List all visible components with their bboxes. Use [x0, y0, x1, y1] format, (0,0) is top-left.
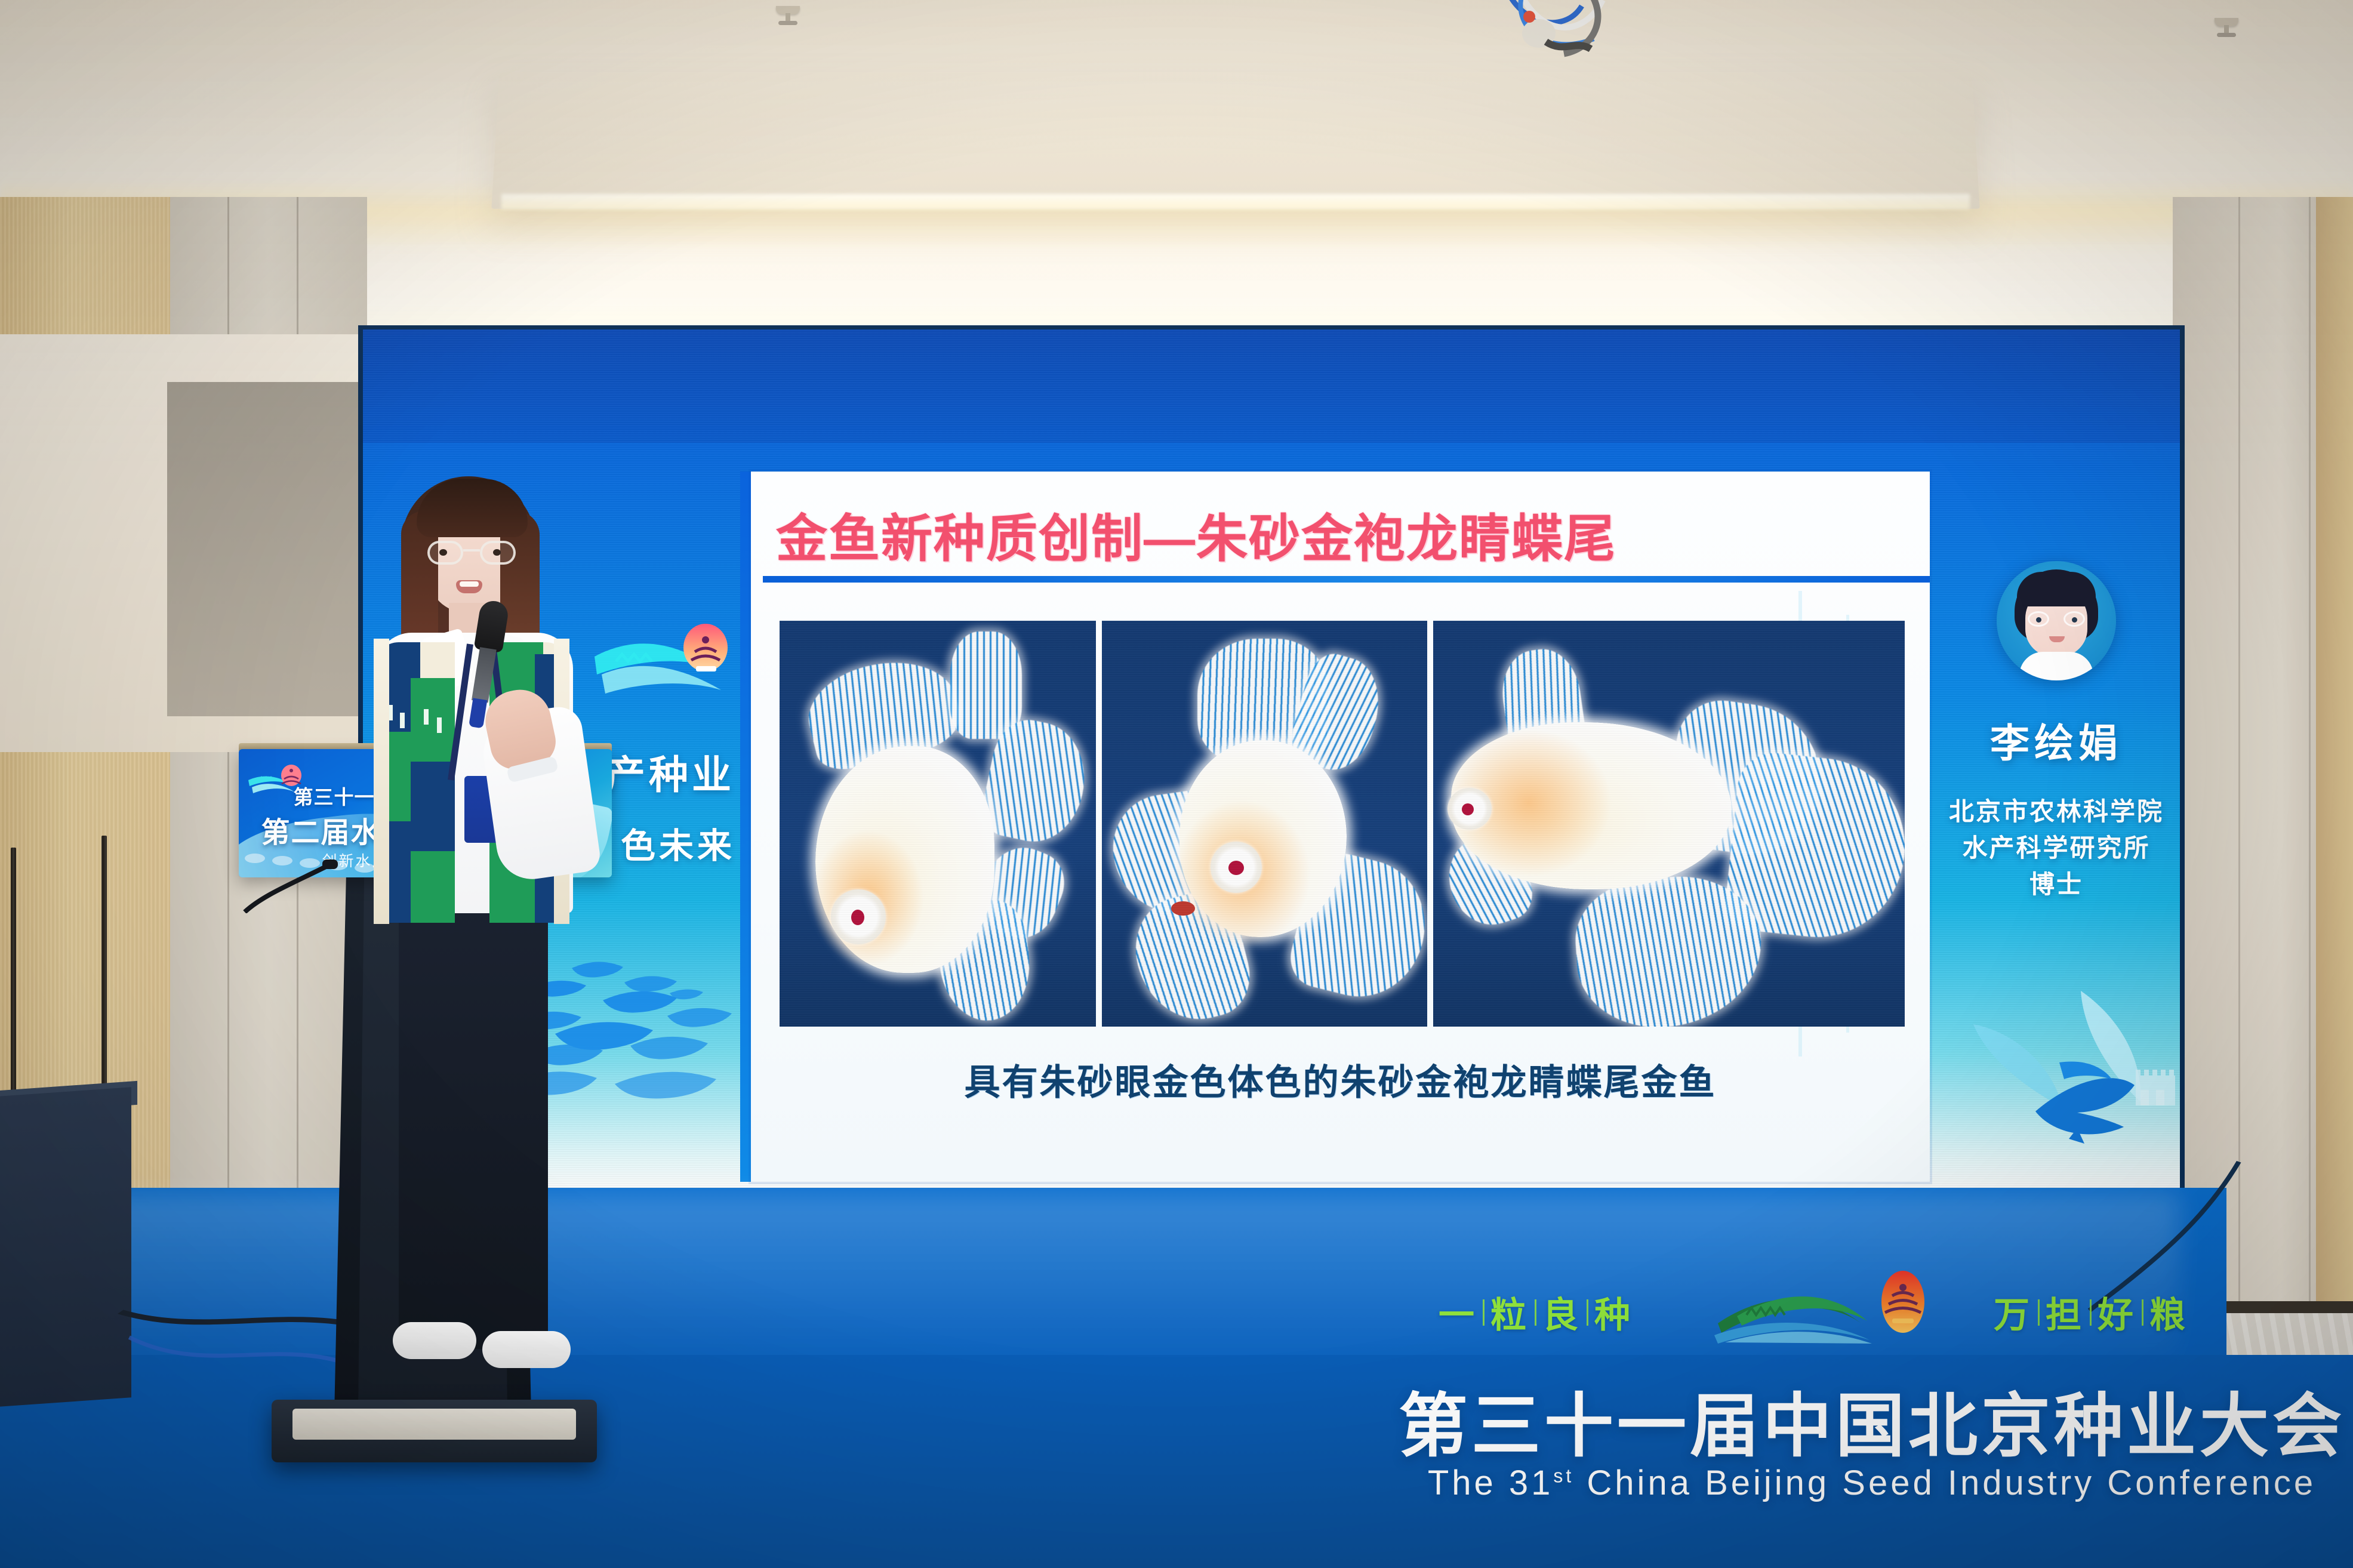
presenter-vest-trim-left [374, 639, 389, 924]
banner-logo-svg [1713, 1266, 1970, 1344]
banner-title-cn: 第三十一届中国北京种业大会 [1391, 1370, 2353, 1470]
slogan-left-char-1: 一 [1439, 1286, 1477, 1338]
slide-title-divider [763, 576, 1930, 583]
slogan-left-char-4: 种 [1594, 1286, 1633, 1338]
slogan-left-char-2: 粒 [1490, 1286, 1529, 1338]
conference-presentation-scene: 产种业 色未来 金鱼新种质创制—朱砂金袍龙睛蝶尾 [0, 0, 2353, 1568]
conference-bottom-banner: 一 粒 良 种 [1391, 1250, 2353, 1568]
fish-leaf-emblem-svg [1964, 985, 2179, 1164]
backdrop-text-line1: 产种业 [606, 743, 735, 800]
goldfish-photo-center [1102, 621, 1427, 1027]
presenter [310, 454, 621, 1433]
slogan-separator [1535, 1299, 1536, 1326]
led-top-band [363, 329, 2180, 443]
speaker-affiliation-line1: 北京市农林科学院 [1937, 794, 2176, 830]
presentation-slide: 金鱼新种质创制—朱砂金袍龙睛蝶尾 [751, 472, 1930, 1182]
slogan-right: 万 担 好 粮 [1994, 1286, 2188, 1338]
banner-title-en-before: The 31 [1428, 1464, 1554, 1502]
soffit-light-strip [501, 194, 1970, 210]
right-wood-trim [2316, 197, 2353, 1367]
slogan-separator [1587, 1299, 1588, 1326]
banner-title-en-sup: st [1553, 1465, 1574, 1487]
presenter-shoe [393, 1322, 476, 1359]
slogan-left-char-3: 良 [1542, 1286, 1581, 1338]
presenter-shoe [482, 1331, 571, 1368]
slogan-separator [2090, 1299, 2092, 1326]
speaker-affiliation: 北京市农林科学院 水产科学研究所 博士 [1937, 794, 2176, 903]
presenter-trousers [399, 895, 548, 1349]
presenter-eye [439, 549, 447, 556]
presenter-bangs [417, 479, 528, 537]
slide-photo-row [780, 621, 1905, 1027]
fire-sprinkler-icon [2209, 18, 2244, 38]
presenter-eye [493, 549, 501, 556]
cable-bundle-svg [1492, 0, 1630, 84]
slogan-right-char-2: 担 [2046, 1286, 2084, 1338]
avatar [1997, 561, 2116, 680]
goldfish-photo-left [780, 621, 1096, 1027]
speaker-affiliation-line2: 水产科学研究所 [1937, 830, 2176, 867]
fish-leaf-emblem [1964, 985, 2179, 1164]
goldfish-photo-right [1433, 621, 1905, 1027]
backdrop-text-line2: 色未来 [621, 818, 735, 868]
ceiling-cable-bundle [1492, 0, 1630, 78]
slogan-left: 一 粒 良 种 [1439, 1286, 1633, 1338]
slogan-right-char-3: 好 [2098, 1286, 2136, 1338]
slogan-right-char-1: 万 [1994, 1286, 2032, 1338]
fire-sprinkler-icon [770, 6, 806, 26]
speaker-name: 李绘娟 [1937, 711, 2176, 769]
banner-title-en: The 31st China Beijing Seed Industry Con… [1391, 1463, 2353, 1503]
banner-logo [1713, 1266, 1970, 1344]
banner-title-en-after: China Beijing Seed Industry Conference [1574, 1464, 2316, 1502]
slogan-separator [2038, 1299, 2040, 1326]
wall-slot [11, 848, 16, 1128]
slogan-separator [1483, 1299, 1485, 1326]
ceiling-soffit [491, 72, 1979, 208]
presenter-teeth [460, 581, 479, 587]
slide-left-accent-bar [740, 472, 752, 1182]
slogan-separator [2142, 1299, 2143, 1326]
slide-caption: 具有朱砂眼金色体色的朱砂金袍龙睛蝶尾金鱼 [751, 1053, 1930, 1105]
slogan-right-char-4: 粮 [2149, 1286, 2188, 1338]
slide-title: 金鱼新种质创制—朱砂金袍龙睛蝶尾 [776, 497, 1616, 571]
speaker-degree: 博士 [1937, 867, 2176, 903]
